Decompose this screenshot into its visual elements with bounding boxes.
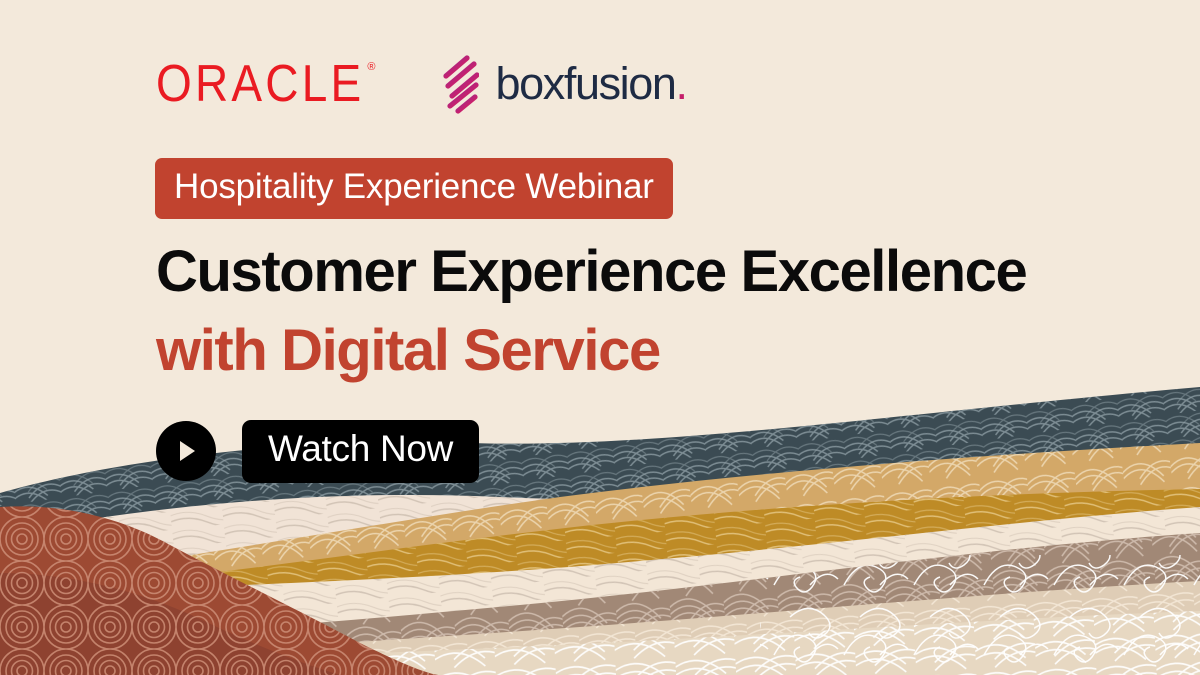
headline-line-2: with Digital Service <box>156 319 1156 384</box>
webinar-category-badge: Hospitality Experience Webinar <box>155 158 673 219</box>
play-circle-icon[interactable] <box>156 421 216 481</box>
promo-content: ORACLE ® <box>156 0 1196 675</box>
boxfusion-logo: boxfusion. <box>421 50 686 116</box>
boxfusion-period: . <box>676 58 687 109</box>
webinar-promo-banner: ORACLE ® <box>0 0 1200 675</box>
oracle-logo: ORACLE ® <box>156 60 375 106</box>
boxfusion-hexagon-mark <box>421 50 479 116</box>
boxfusion-wordmark-text: boxfusion <box>495 58 675 109</box>
watch-now-button[interactable]: Watch Now <box>242 420 479 483</box>
page-title: Customer Experience Excellence with Digi… <box>156 240 1156 384</box>
oracle-wordmark: ORACLE <box>156 57 364 109</box>
boxfusion-wordmark: boxfusion. <box>495 61 686 106</box>
brand-logo-row: ORACLE ® <box>156 52 687 114</box>
registered-trademark-icon: ® <box>367 62 375 73</box>
call-to-action-group: Watch Now <box>156 420 479 483</box>
headline-line-1: Customer Experience Excellence <box>156 240 1156 305</box>
